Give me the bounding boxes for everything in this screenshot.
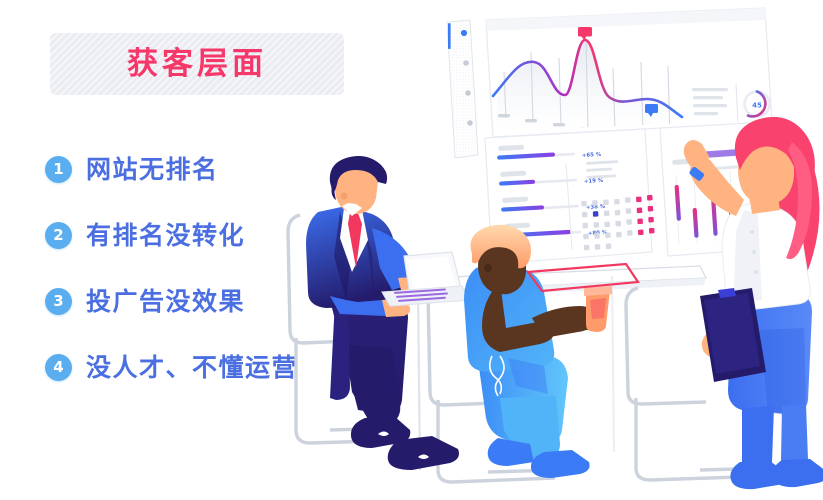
standing-woman-presenter: [684, 117, 823, 489]
coffee-cup[interactable]: [584, 286, 612, 332]
shoe: [531, 450, 590, 478]
sidebar-item-dot: [467, 120, 473, 126]
sidebar-item-dot: [463, 60, 469, 66]
gauge-value: 45: [752, 102, 762, 110]
sidebar-item-dot: [465, 90, 471, 96]
heatmap-cell-selected: [593, 211, 599, 217]
metric-value: +65 %: [582, 152, 602, 159]
seated-man-with-laptop: [306, 156, 459, 470]
dashboard-sidebar[interactable]: [447, 20, 478, 158]
metric-value: +19 %: [584, 178, 604, 185]
infographic-canvas: 获客层面 1 网站无排名 2 有排名没转化 3 投广告没效果 4 没人才、不懂运…: [0, 0, 823, 500]
sidebar-active-indicator: [448, 23, 451, 49]
shoe: [388, 436, 459, 470]
scene-illustration: 45 +65 % +19 %: [0, 0, 823, 500]
line-chart-panel[interactable]: 45: [486, 8, 772, 138]
sidebar-item-dot-active: [461, 30, 467, 36]
shoe: [772, 459, 823, 487]
